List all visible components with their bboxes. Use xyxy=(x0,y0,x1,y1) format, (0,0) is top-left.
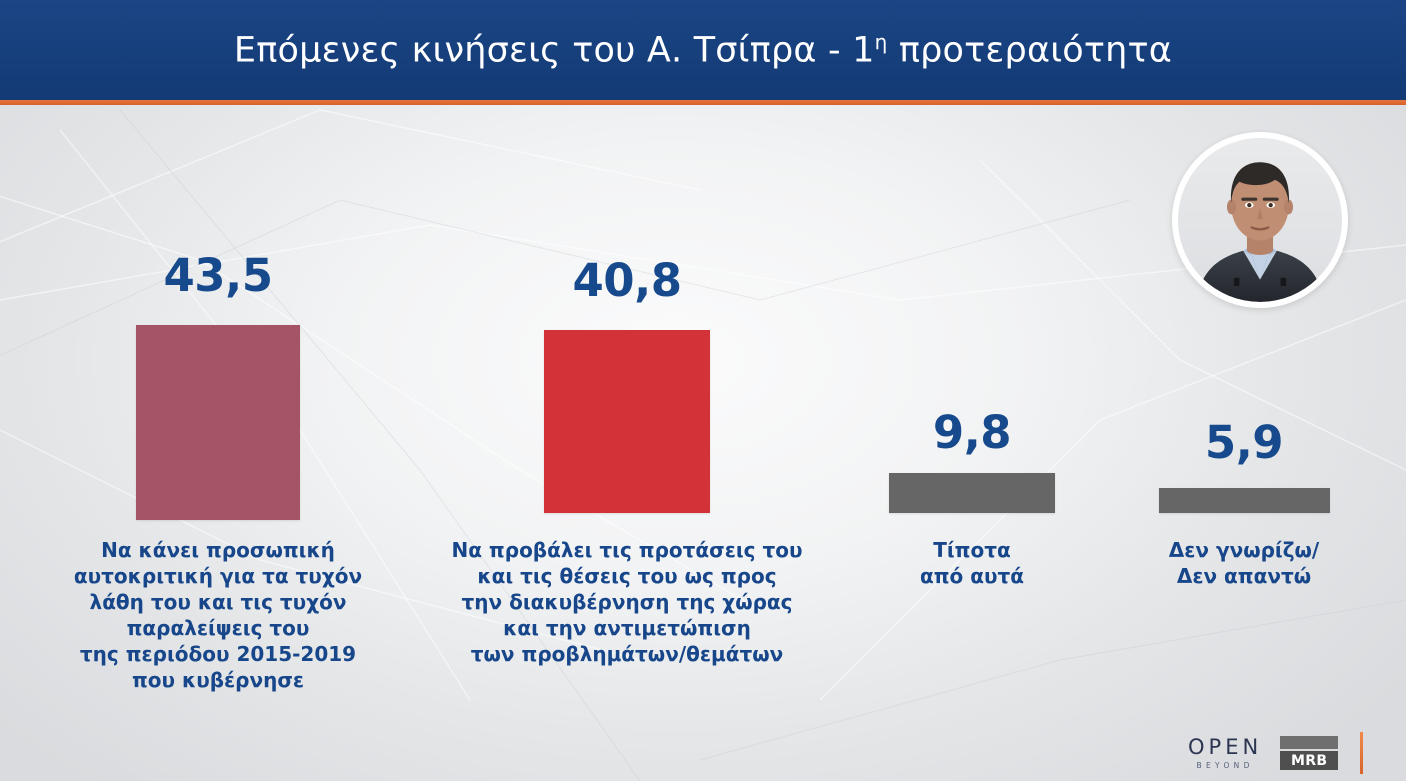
portrait-image xyxy=(1178,138,1342,302)
politician-portrait-avatar xyxy=(1172,132,1348,308)
bar-value-label-0: 43,5 xyxy=(36,253,400,298)
mrb-logo: MRB xyxy=(1280,736,1338,771)
bar-group-0: 43,5 Να κάνει προσωπική αυτοκριτική για … xyxy=(36,105,400,705)
bar-category-label-0: Να κάνει προσωπική αυτοκριτική για τα τυ… xyxy=(36,537,400,693)
open-logo-tagline: BEYOND xyxy=(1197,762,1254,770)
footer-orange-rule xyxy=(1360,732,1363,774)
open-beyond-logo: OPEN BEYOND xyxy=(1188,737,1262,770)
bar-category-label-3: Δεν γνωρίζω/ Δεν απαντώ xyxy=(1134,537,1354,589)
open-logo-word: OPEN xyxy=(1188,737,1262,758)
page-title-superscript: η xyxy=(875,30,888,54)
bar-group-2: 9,8 Τίποτα από αυτά xyxy=(862,105,1082,705)
bar-rect-0 xyxy=(136,325,300,520)
page-title-suffix: προτεραιότητα xyxy=(888,30,1173,70)
mrb-logo-bar xyxy=(1280,736,1338,749)
bar-group-1: 40,8 Να προβάλει τις προτάσεις του και τ… xyxy=(415,105,839,705)
header-accent-rule xyxy=(0,100,1406,105)
bar-rect-1 xyxy=(544,330,710,513)
bar-category-label-2: Τίποτα από αυτά xyxy=(862,537,1082,589)
bar-value-label-1: 40,8 xyxy=(415,258,839,303)
page-title-prefix: Επόμενες κινήσεις του Α. Τσίπρα - 1 xyxy=(234,30,875,70)
page-title: Επόμενες κινήσεις του Α. Τσίπρα - 1η προ… xyxy=(234,30,1172,71)
bar-value-label-2: 9,8 xyxy=(862,410,1082,455)
bar-rect-2 xyxy=(889,473,1055,513)
bar-value-label-3: 5,9 xyxy=(1134,420,1354,465)
bar-rect-3 xyxy=(1159,488,1330,513)
header-banner: Επόμενες κινήσεις του Α. Τσίπρα - 1η προ… xyxy=(0,0,1406,100)
mrb-logo-text: MRB xyxy=(1291,754,1327,768)
bar-category-label-1: Να προβάλει τις προτάσεις του και τις θέ… xyxy=(415,537,839,667)
mrb-logo-box: MRB xyxy=(1280,751,1338,770)
footer-logo-group: OPEN BEYOND MRB xyxy=(1188,728,1388,778)
